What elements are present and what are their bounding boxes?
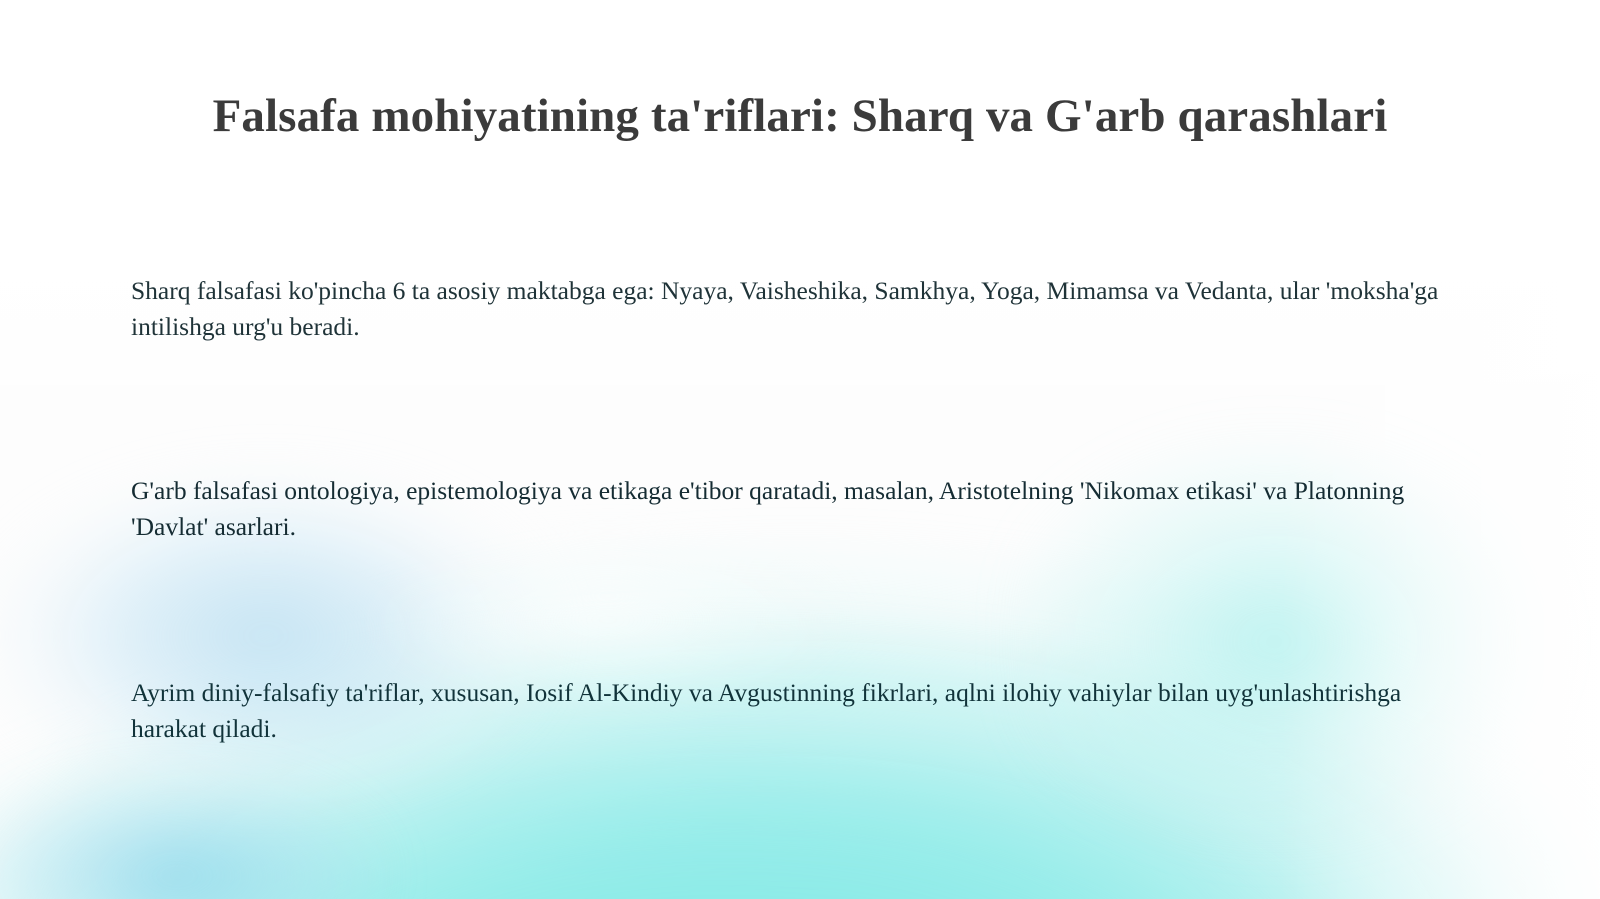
paragraph-religious-philosophy: Ayrim diniy-falsafiy ta'riflar, xususan,… xyxy=(131,675,1451,747)
paragraph-eastern-philosophy: Sharq falsafasi ko'pincha 6 ta asosiy ma… xyxy=(131,273,1451,345)
slide-content: Falsafa mohiyatining ta'riflari: Sharq v… xyxy=(0,0,1600,899)
presentation-slide: Falsafa mohiyatining ta'riflari: Sharq v… xyxy=(0,0,1600,899)
paragraph-western-philosophy: G'arb falsafasi ontologiya, epistemologi… xyxy=(131,473,1451,545)
slide-title: Falsafa mohiyatining ta'riflari: Sharq v… xyxy=(0,89,1600,144)
